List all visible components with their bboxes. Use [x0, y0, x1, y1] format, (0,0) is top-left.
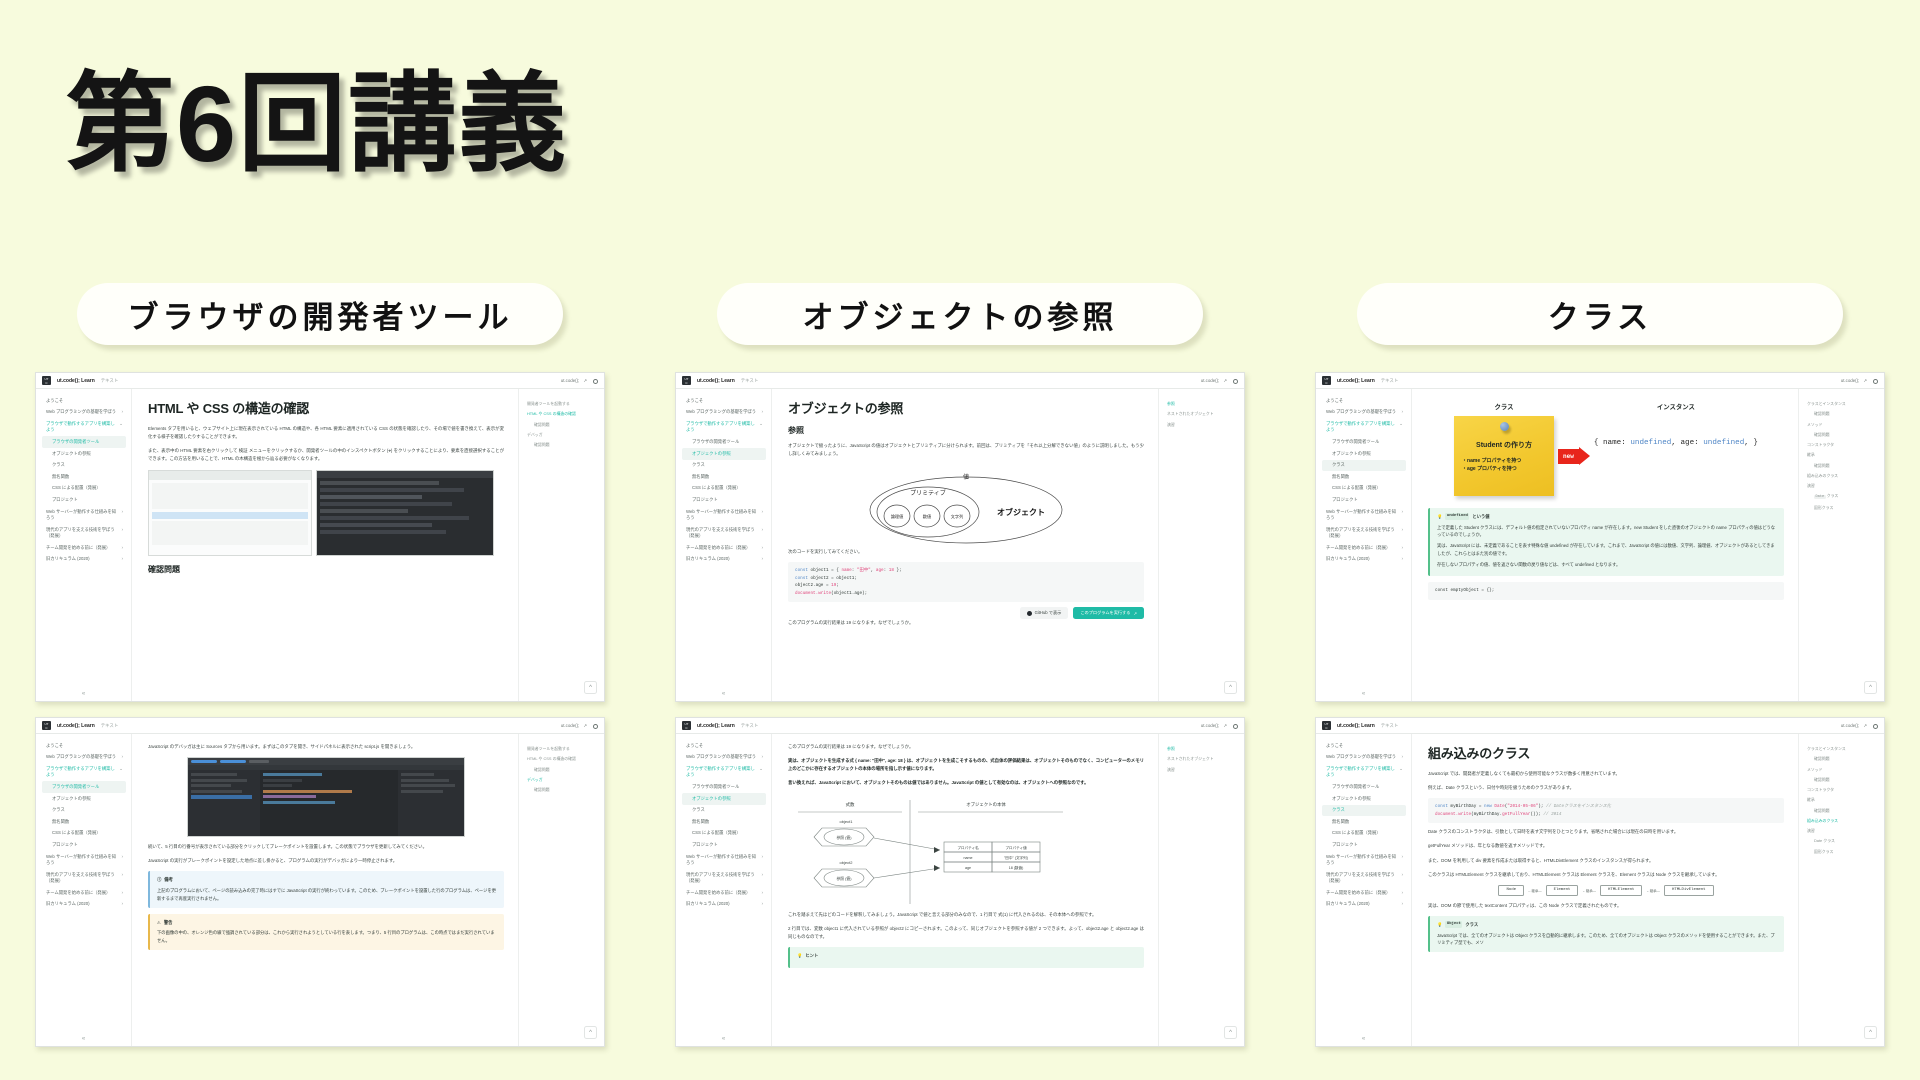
sidebar-item-web-server[interactable]: Web サーバーが動作する仕組みを知ろう›	[682, 851, 766, 869]
sidebar-item-object-reference[interactable]: オブジェクトの参照	[1322, 448, 1406, 460]
topic-pill-3: クラス	[1357, 283, 1843, 345]
chevron-right-icon: ›	[1401, 410, 1403, 415]
browser-screenshot-devtools-html-css: UTC ut.code(); Learn テキスト ut.code(); ↗ よ…	[35, 372, 605, 702]
content-heading: HTML や CSS の構造の確認	[148, 398, 504, 417]
chevron-right-icon: ›	[121, 855, 123, 860]
chevron-right-icon: ›	[1401, 855, 1403, 860]
content-paragraph-1: このプログラムの実行結果は 19 になります。なぜでしょうか。	[788, 743, 1144, 751]
sidebar-item-project[interactable]: プロジェクト	[682, 839, 766, 851]
scroll-to-top-button[interactable]: ^	[1864, 681, 1877, 694]
sidebar-item-modern-tech[interactable]: 現代のアプリを支える技術を学ぼう（発展）›	[682, 524, 766, 542]
undefined-tip-callout: 💡 undefined という値 上で定義した Student クラスには、デフ…	[1428, 508, 1784, 576]
toc-item[interactable]: 確認問題	[1807, 430, 1878, 440]
content-heading: 組み込みのクラス	[1428, 743, 1784, 762]
toc-item[interactable]: コンストラクタ	[1807, 440, 1878, 450]
sidebar-item-team-dev[interactable]: チーム開発を始める前に（発展）›	[682, 887, 766, 899]
toc-item[interactable]: クラスとインスタンス	[1807, 744, 1878, 754]
venn-inner-label-3: 文字列	[951, 513, 964, 520]
brand-right-label: ut.code();	[1841, 723, 1860, 728]
sidebar-item-anonymous-fn[interactable]: 無名関数	[42, 471, 126, 483]
venn-outer-label: 値	[963, 473, 969, 481]
toc-item[interactable]: 演習	[1167, 420, 1238, 430]
chevron-right-icon: ›	[1401, 755, 1403, 760]
toc-item[interactable]: 確認問題	[527, 420, 598, 430]
callout-title-chip: undefined	[1445, 513, 1469, 520]
chevron-down-icon: ⌄	[1399, 422, 1403, 427]
new-arrow: new	[1558, 447, 1590, 465]
sidebar-item-project[interactable]: プロジェクト	[42, 494, 126, 506]
toc-item[interactable]: 確認問題	[527, 440, 598, 450]
sidebar-item-devtools[interactable]: ブラウザの開発者ツール	[1322, 781, 1406, 793]
external-link-icon[interactable]: ↗	[1863, 378, 1867, 384]
sidebar-item-welcome[interactable]: ようこそ	[1322, 740, 1406, 752]
toc-item-active[interactable]: デバッガ	[527, 775, 598, 785]
sidebar-item-browser-apps[interactable]: ブラウザで動作するアプリを構築しよう⌄	[42, 418, 126, 436]
chevron-right-icon: ›	[121, 557, 123, 562]
brand-label: ut.code(); Learn	[57, 723, 95, 729]
external-link-icon: ↗	[1133, 611, 1137, 616]
toc-item[interactable]: HTML や CSS の構造の確認	[527, 754, 598, 764]
sidebar-item-css-layout[interactable]: CSS による配置（発展）	[42, 828, 126, 840]
chevron-right-icon: ›	[761, 902, 763, 907]
sidebar-item-web-basics[interactable]: Web プログラミングの基礎を学ぼう›	[682, 752, 766, 764]
devtools-image-row	[148, 470, 504, 556]
content-paragraph-3: Date クラスのコンストラクタは、引数として日時を表す文字列をひとつとります。…	[1428, 828, 1784, 836]
sidebar-item-web-server[interactable]: Web サーバーが動作する仕組みを知ろう›	[42, 851, 126, 869]
content-paragraph-2: 続いて、5 行目の行番号が表示されている部分をクリックしてブレークポイントを設置…	[148, 843, 504, 851]
sidebar-item-old-curriculum[interactable]: 旧カリキュラム (2020)›	[1322, 899, 1406, 911]
toc-item[interactable]: 継承	[1807, 795, 1878, 805]
sidebar-item-browser-apps[interactable]: ブラウザで動作するアプリを構築しよう⌄	[1322, 418, 1406, 436]
hint-callout: 💡 ヒント	[788, 947, 1144, 968]
section-subheading: 確認問題	[148, 564, 504, 575]
sidebar-item-class[interactable]: クラス	[42, 460, 126, 472]
toc-item[interactable]: 図形クラス	[1807, 847, 1878, 857]
browser-topbar: UTC ut.code(); Learn テキスト ut.code(); ↗	[676, 373, 1244, 389]
main-content: オブジェクトの参照 参照 オブジェクトで扱ったように、JavaScript の値…	[772, 389, 1158, 701]
sidebar-item-web-server[interactable]: Web サーバーが動作する仕組みを知ろう›	[1322, 851, 1406, 869]
callout-title: 💡 ヒント	[797, 952, 1137, 960]
content-paragraph-4: これを踏まえて先ほどのコードを解釈してみましょう。JavaScript で値と言…	[788, 911, 1144, 919]
sidebar-item-web-basics[interactable]: Web プログラミングの基礎を学ぼう›	[1322, 752, 1406, 764]
chevron-right-icon: ›	[121, 546, 123, 551]
toc-item-active[interactable]: HTML や CSS の構造の確認	[527, 409, 598, 419]
sidebar-item-anonymous-fn[interactable]: 無名関数	[1322, 471, 1406, 483]
sidebar-item-class[interactable]: クラス	[1322, 460, 1406, 472]
nav-text-link[interactable]: テキスト	[741, 378, 758, 384]
lightbulb-icon: 💡	[1437, 513, 1442, 521]
note-callout: ⓘ 備考 上記のプログラムにおいて、ページの読み込みの完了時にはすでに Java…	[148, 871, 504, 907]
instance-column: インスタンス { name: undefined, age: undefined…	[1594, 402, 1758, 450]
sidebar-collapse-button[interactable]: «	[36, 1036, 131, 1042]
chevron-right-icon: ›	[121, 873, 123, 878]
external-link-icon[interactable]: ↗	[1223, 723, 1227, 729]
inheritance-node-4: HTMLDivElement	[1664, 885, 1714, 896]
callout-paragraph-2: 実は、JavaScript には、未定義であることを表す特殊な値 undefin…	[1437, 542, 1777, 557]
ref-col-left-label: 式数	[846, 801, 855, 808]
ref-col-right-label: オブジェクトの本体	[966, 801, 1006, 808]
sidebar-item-browser-apps[interactable]: ブラウザで動作するアプリを構築しよう⌄	[682, 763, 766, 781]
toc-item[interactable]: 開発者ツールを起動する	[527, 744, 598, 754]
inheritance-node-1: Node	[1498, 885, 1524, 896]
callout-body: JavaScript では、全てのオブジェクトは Object クラスを自動的に…	[1437, 932, 1777, 947]
sidebar-item-web-basics[interactable]: Web プログラミングの基礎を学ぼう›	[682, 407, 766, 419]
chevron-right-icon: ›	[761, 873, 763, 878]
chevron-right-icon: ›	[121, 755, 123, 760]
run-program-button[interactable]: このプログラムを実行する↗	[1073, 607, 1144, 619]
sidebar-item-project[interactable]: プロジェクト	[42, 839, 126, 851]
content-paragraph-1: Elements タブを用いると、ウェブサイト上に現在表示されている HTML …	[148, 425, 504, 441]
scroll-to-top-button[interactable]: ^	[584, 1026, 597, 1039]
toc-item[interactable]: Date クラス	[1807, 836, 1878, 846]
sun-icon[interactable]	[1871, 722, 1878, 729]
browser-topbar: UTC ut.code(); Learn テキスト ut.code(); ↗	[36, 373, 604, 389]
browser-topbar: UTC ut.code(); Learn テキスト ut.code(); ↗	[1316, 373, 1884, 389]
sun-icon[interactable]	[1871, 377, 1878, 384]
inheritance-arrow-1: ←継承—	[1528, 888, 1542, 893]
toc-item[interactable]: 確認問題	[527, 785, 598, 795]
callout-code-block: const emptyObject = {};	[1428, 582, 1784, 600]
callout-title-rest: という値	[1472, 513, 1489, 521]
sidebar-item-modern-tech[interactable]: 現代のアプリを支える技術を学ぼう（発展）›	[682, 869, 766, 887]
sidebar-item-devtools[interactable]: ブラウザの開発者ツール	[1322, 436, 1406, 448]
brand-label: ut.code(); Learn	[57, 378, 95, 384]
content-paragraph-2: 例えば、Date クラスという、日付や時刻を扱うためのクラスがあります。	[1428, 784, 1784, 792]
sun-icon[interactable]	[1231, 722, 1238, 729]
sidebar-item-class[interactable]: クラス	[682, 805, 766, 817]
sidebar-item-team-dev[interactable]: チーム開発を始める前に（発展）›	[682, 542, 766, 554]
sidebar-nav: ようこそ Web プログラミングの基礎を学ぼう› ブラウザで動作するアプリを構築…	[1316, 734, 1412, 1046]
sidebar-nav: ようこそ Web プログラミングの基礎を学ぼう› ブラウザで動作するアプリを構築…	[36, 734, 132, 1046]
content-paragraph-1: オブジェクトで扱ったように、JavaScript の値はオブジェクトとプリミティ…	[788, 442, 1144, 458]
sidebar-item-class[interactable]: クラス	[682, 460, 766, 472]
ref-table-cell-1-2: "田中" (文字列)	[1004, 855, 1028, 860]
sidebar-collapse-button[interactable]: «	[36, 691, 131, 697]
table-of-contents: クラスとインスタンス 確認問題 メソッド 確認問題 コンストラクタ 継承 確認問…	[1798, 389, 1884, 701]
sidebar-collapse-button[interactable]: «	[676, 691, 771, 697]
toc-item[interactable]: 確認問題	[1807, 461, 1878, 471]
chevron-right-icon: ›	[121, 891, 123, 896]
venn-middle-label: プリミティブ	[910, 489, 946, 497]
brand-label: ut.code(); Learn	[1337, 378, 1375, 384]
toc-item-active[interactable]: 組み込みのクラス	[1807, 816, 1878, 826]
toc-item-active[interactable]: 参照	[1167, 744, 1238, 754]
sidebar-item-web-basics[interactable]: Web プログラミングの基礎を学ぼう›	[1322, 407, 1406, 419]
grid-cell-6: UTC ut.code(); Learn テキスト ut.code(); ↗ よ…	[1280, 717, 1920, 1062]
content-paragraph-4: getFullYear メソッドは、年となる数値を返すメソッドです。	[1428, 842, 1784, 850]
toc-item[interactable]: 確認問題	[1807, 806, 1878, 816]
grid-cell-2: UTC ut.code(); Learn テキスト ut.code(); ↗ よ…	[640, 372, 1280, 717]
info-icon: ⓘ	[157, 876, 161, 884]
code-action-buttons: GitHub で表示 このプログラムを実行する↗	[788, 607, 1144, 619]
sidebar-item-browser-apps[interactable]: ブラウザで動作するアプリを構築しよう⌄	[42, 763, 126, 781]
browser-topbar: UTC ut.code(); Learn テキスト ut.code(); ↗	[676, 718, 1244, 734]
callout-title: ⓘ 備考	[157, 876, 497, 884]
chevron-right-icon: ›	[121, 902, 123, 907]
sidebar-collapse-button[interactable]: «	[676, 1036, 771, 1042]
ref-table-cell-1-1: name	[964, 856, 973, 860]
external-link-icon[interactable]: ↗	[583, 723, 587, 729]
sidebar-item-object-reference[interactable]: オブジェクトの参照	[42, 448, 126, 460]
sidebar-item-web-server[interactable]: Web サーバーが動作する仕組みを知ろう›	[42, 506, 126, 524]
toc-item[interactable]: 演習	[1807, 481, 1878, 491]
toc-item[interactable]: ネストされたオブジェクト	[1167, 754, 1238, 764]
inheritance-arrow-2: ←継承—	[1582, 888, 1596, 893]
sidebar-item-project[interactable]: プロジェクト	[682, 494, 766, 506]
sidebar-item-team-dev[interactable]: チーム開発を始める前に（発展）›	[42, 887, 126, 899]
brand-right-label: ut.code();	[561, 723, 580, 728]
topic-pill-1: ブラウザの開発者ツール	[77, 283, 563, 345]
sidebar-item-class[interactable]: クラス	[42, 805, 126, 817]
sidebar-item-welcome[interactable]: ようこそ	[682, 740, 766, 752]
toc-item[interactable]: 演習	[1807, 826, 1878, 836]
reference-diagram: 式数 オブジェクトの本体 object1 参照 (値) object2	[788, 794, 1144, 911]
toc-item-active[interactable]: 参照	[1167, 399, 1238, 409]
devtools-panel-image-right	[316, 470, 494, 556]
scroll-to-top-button[interactable]: ^	[584, 681, 597, 694]
toc-item[interactable]: 組み込みのクラス	[1807, 471, 1878, 481]
content-paragraph-5: 2 行目では、変数 object1 に代入されている参照が object2 にコ…	[788, 925, 1144, 941]
sticky-note-item-1: ・name プロパティを持つ	[1462, 458, 1546, 466]
chevron-right-icon: ›	[1401, 528, 1403, 533]
sidebar-collapse-button[interactable]: «	[1316, 691, 1411, 697]
chevron-down-icon: ⌄	[759, 767, 763, 772]
sidebar-item-modern-tech[interactable]: 現代のアプリを支える技術を学ぼう（発展）›	[42, 869, 126, 887]
sidebar-item-old-curriculum[interactable]: 旧カリキュラム (2020)›	[682, 899, 766, 911]
chevron-right-icon: ›	[761, 891, 763, 896]
sidebar-item-welcome[interactable]: ようこそ	[682, 395, 766, 407]
nav-text-link[interactable]: テキスト	[1381, 378, 1398, 384]
table-of-contents: 参照 ネストされたオブジェクト 演習	[1158, 734, 1244, 1046]
callout-title: 💡 Object クラス	[1437, 921, 1777, 929]
callout-paragraph-3: 存在しないプロパティの値、値を返さない関数の戻り値などは、すべて undefin…	[1437, 561, 1777, 569]
callout-paragraph-1: 上で定義した Student クラスには、デフォルト値の指定されていないプロパテ…	[1437, 524, 1777, 539]
sidebar-item-team-dev[interactable]: チーム開発を始める前に（発展）›	[1322, 542, 1406, 554]
table-of-contents: 開発者ツールを起動する HTML や CSS の構造の確認 確認問題 デバッガ …	[518, 389, 604, 701]
ref-var-1-label: object1	[840, 819, 854, 824]
sidebar-item-class[interactable]: クラス	[1322, 805, 1406, 817]
sidebar-collapse-button[interactable]: «	[1316, 1036, 1411, 1042]
external-link-icon[interactable]: ↗	[583, 378, 587, 384]
sidebar-item-object-reference[interactable]: オブジェクトの参照	[682, 793, 766, 805]
browser-screenshot-class: UTC ut.code(); Learn テキスト ut.code(); ↗ よ…	[1315, 372, 1885, 702]
scroll-to-top-button[interactable]: ^	[1224, 1026, 1237, 1039]
scroll-to-top-button[interactable]: ^	[1864, 1026, 1877, 1039]
sidebar-nav: ようこそ Web プログラミングの基礎を学ぼう› ブラウザで動作するアプリを構築…	[1316, 389, 1412, 701]
content-paragraph-3: JavaScript の実行がブレークポイントを設定した地点に差し掛かると、プロ…	[148, 857, 504, 865]
lightbulb-icon: 💡	[1437, 921, 1442, 929]
sidebar-item-css-layout[interactable]: CSS による配置（発展）	[682, 483, 766, 495]
sidebar-item-css-layout[interactable]: CSS による配置（発展）	[42, 483, 126, 495]
venn-inner-label-2: 数値	[923, 513, 931, 520]
sun-icon[interactable]	[591, 722, 598, 729]
sun-icon[interactable]	[591, 377, 598, 384]
chevron-right-icon: ›	[761, 557, 763, 562]
toc-item[interactable]: 確認問題	[1807, 409, 1878, 419]
chevron-right-icon: ›	[1401, 873, 1403, 878]
sidebar-item-browser-apps[interactable]: ブラウザで動作するアプリを構築しよう⌄	[682, 418, 766, 436]
sticky-note-item-2: ・age プロパティを持つ	[1462, 466, 1546, 474]
sidebar-item-css-layout[interactable]: CSS による配置（発展）	[682, 828, 766, 840]
devtools-sources-image	[187, 757, 465, 837]
reference-diagram-svg: 式数 オブジェクトの本体 object1 参照 (値) object2	[788, 798, 1078, 906]
class-column-title: クラス	[1495, 402, 1514, 411]
sidebar-nav: ようこそ Web プログラミングの基礎を学ぼう› ブラウザで動作するアプリを構築…	[36, 389, 132, 701]
chevron-right-icon: ›	[1401, 546, 1403, 551]
sidebar-item-browser-apps[interactable]: ブラウザで動作するアプリを構築しよう⌄	[1322, 763, 1406, 781]
toc-item[interactable]: 図形クラス	[1807, 503, 1878, 513]
code-block: const myBirthDay = new Date("2014-05-06"…	[1428, 798, 1784, 823]
ref-bubble-2-label: 参照 (値)	[837, 876, 853, 881]
arrow-head-icon	[1579, 447, 1590, 465]
class-instance-diagram: クラス Student の作り方 ・name プロパティを持つ ・age プロパ…	[1428, 398, 1784, 502]
external-link-icon[interactable]: ↗	[1223, 378, 1227, 384]
toc-item[interactable]: メソッド	[1807, 420, 1878, 430]
topic-pill-2: オブジェクトの参照	[717, 283, 1203, 345]
warning-icon: ⚠	[157, 919, 161, 927]
utcode-logo: UTC	[42, 376, 51, 385]
browser-screenshot-debugger: UTC ut.code(); Learn テキスト ut.code(); ↗ よ…	[35, 717, 605, 1047]
external-link-icon[interactable]: ↗	[1863, 723, 1867, 729]
content-paragraph-6: このクラスは HTMLElement クラスを継承しており、HTMLElemen…	[1428, 871, 1784, 879]
github-view-button[interactable]: GitHub で表示	[1020, 607, 1069, 619]
sidebar-item-web-basics[interactable]: Web プログラミングの基礎を学ぼう›	[42, 752, 126, 764]
utcode-logo: UTC	[42, 721, 51, 730]
sidebar-item-project[interactable]: プロジェクト	[1322, 494, 1406, 506]
toc-item[interactable]: コンストラクタ	[1807, 785, 1878, 795]
main-content: このプログラムの実行結果は 19 になります。なぜでしょうか。 実は、オブジェク…	[772, 734, 1158, 1046]
sidebar-item-welcome[interactable]: ようこそ	[42, 395, 126, 407]
chevron-right-icon: ›	[761, 510, 763, 515]
table-of-contents: 開発者ツールを起動する HTML や CSS の構造の確認 確認問題 デバッガ …	[518, 734, 604, 1046]
ref-bubble-1-label: 参照 (値)	[837, 835, 853, 840]
slide-root: 第6回講義 ブラウザの開発者ツール オブジェクトの参照 クラス UTC ut.c…	[0, 0, 1920, 1080]
browser-topbar: UTC ut.code(); Learn テキスト ut.code(); ↗	[36, 718, 604, 734]
nav-text-link[interactable]: テキスト	[101, 723, 118, 729]
scroll-to-top-button[interactable]: ^	[1224, 681, 1237, 694]
toc-item[interactable]: 開発者ツールを起動する	[527, 399, 598, 409]
chevron-right-icon: ›	[761, 755, 763, 760]
callout-title-chip: Object	[1445, 921, 1462, 928]
sidebar-item-anonymous-fn[interactable]: 無名関数	[682, 816, 766, 828]
nav-text-link[interactable]: テキスト	[1381, 723, 1398, 729]
venn-diagram-svg: 値 プリミティブ 論理値 数値 文字列 オブジェクト	[861, 464, 1071, 546]
ref-table-cell-2-2: 18 (数値)	[1009, 865, 1024, 870]
callout-body: 下の画像の中の、オレンジ色の線で強調されている部分は、これから実行されようとして…	[157, 929, 497, 944]
sidebar-item-css-layout[interactable]: CSS による配置（発展）	[1322, 828, 1406, 840]
sidebar-item-anonymous-fn[interactable]: 無名関数	[1322, 816, 1406, 828]
chevron-right-icon: ›	[1401, 510, 1403, 515]
browser-screenshot-reference-detail: UTC ut.code(); Learn テキスト ut.code(); ↗ よ…	[675, 717, 1245, 1047]
nav-text-link[interactable]: テキスト	[741, 723, 758, 729]
ref-table-cell-2-1: age	[965, 866, 971, 870]
utcode-logo: UTC	[1322, 721, 1331, 730]
sidebar-item-modern-tech[interactable]: 現代のアプリを支える技術を学ぼう（発展）›	[1322, 524, 1406, 542]
toc-item[interactable]: 確認問題	[527, 765, 598, 775]
chevron-right-icon: ›	[121, 410, 123, 415]
toc-item[interactable]: 演習	[1167, 765, 1238, 775]
table-of-contents: 参照 ネストされたオブジェクト 演習	[1158, 389, 1244, 701]
nav-text-link[interactable]: テキスト	[101, 378, 118, 384]
brand-label: ut.code(); Learn	[697, 378, 735, 384]
chevron-right-icon: ›	[761, 410, 763, 415]
table-of-contents: クラスとインスタンス 確認問題 メソッド 確認問題 コンストラクタ 継承 確認問…	[1798, 734, 1884, 1046]
toc-item[interactable]: クラスとインスタンス	[1807, 399, 1878, 409]
sidebar-item-devtools[interactable]: ブラウザの開発者ツール	[682, 781, 766, 793]
brand-right-label: ut.code();	[1841, 378, 1860, 383]
main-content: HTML や CSS の構造の確認 Elements タブを用いると、ウェブサイ…	[132, 389, 518, 701]
toc-item[interactable]: 継承	[1807, 450, 1878, 460]
sun-icon[interactable]	[1231, 377, 1238, 384]
sidebar-item-web-server[interactable]: Web サーバーが動作する仕組みを知ろう›	[1322, 506, 1406, 524]
callout-title: ⚠ 警告	[157, 919, 497, 927]
sidebar-item-modern-tech[interactable]: 現代のアプリを支える技術を学ぼう（発展）›	[1322, 869, 1406, 887]
toc-item[interactable]: メソッド	[1807, 765, 1878, 775]
sidebar-item-anonymous-fn[interactable]: 無名関数	[682, 471, 766, 483]
grid-cell-3: UTC ut.code(); Learn テキスト ut.code(); ↗ よ…	[1280, 372, 1920, 717]
browser-topbar: UTC ut.code(); Learn テキスト ut.code(); ↗	[1316, 718, 1884, 734]
sidebar-item-old-curriculum[interactable]: 旧カリキュラム (2020)›	[1322, 554, 1406, 566]
sidebar-item-anonymous-fn[interactable]: 無名関数	[42, 816, 126, 828]
callout-body: 上記のプログラムにおいて、ページの読み込みの完了時にはすでに JavaScrip…	[157, 887, 497, 902]
content-paragraph-7: 実は、DOM の節で使用した textContent プロパティは、この Nod…	[1428, 902, 1784, 910]
chevron-right-icon: ›	[1401, 891, 1403, 896]
brand-label: ut.code(); Learn	[1337, 723, 1375, 729]
toc-item[interactable]: Date クラス	[1807, 491, 1878, 503]
sidebar-item-team-dev[interactable]: チーム開発を始める前に（発展）›	[42, 542, 126, 554]
content-paragraph-2: また、表示中の HTML 要素を右クリックして 検証 メニューをクリックするか、…	[148, 447, 504, 463]
sidebar-item-devtools[interactable]: ブラウザの開発者ツール	[42, 436, 126, 448]
sidebar-item-object-reference[interactable]: オブジェクトの参照	[42, 793, 126, 805]
toc-item[interactable]: 確認問題	[1807, 775, 1878, 785]
sidebar-item-project[interactable]: プロジェクト	[1322, 839, 1406, 851]
chevron-down-icon: ⌄	[759, 422, 763, 427]
screenshot-grid: UTC ut.code(); Learn テキスト ut.code(); ↗ よ…	[0, 372, 1920, 1062]
browser-screenshot-object-reference: UTC ut.code(); Learn テキスト ut.code(); ↗ よ…	[675, 372, 1245, 702]
sidebar-item-object-reference[interactable]: オブジェクトの参照	[682, 448, 766, 460]
instance-column-title: インスタンス	[1657, 402, 1695, 411]
content-subheading: 参照	[788, 425, 1144, 436]
new-arrow-label: new	[1558, 449, 1579, 464]
toc-item[interactable]: ネストされたオブジェクト	[1167, 409, 1238, 419]
toc-item[interactable]: 確認問題	[1807, 754, 1878, 764]
sidebar-item-old-curriculum[interactable]: 旧カリキュラム (2020)›	[42, 899, 126, 911]
brand-right-label: ut.code();	[1201, 378, 1220, 383]
sidebar-item-object-reference[interactable]: オブジェクトの参照	[1322, 793, 1406, 805]
grid-cell-4: UTC ut.code(); Learn テキスト ut.code(); ↗ よ…	[0, 717, 640, 1062]
chevron-right-icon: ›	[761, 528, 763, 533]
main-content: クラス Student の作り方 ・name プロパティを持つ ・age プロパ…	[1412, 389, 1798, 701]
content-paragraph-3: 言い換えれば、JavaScript において、オブジェクトそのものは値ではありま…	[788, 779, 1144, 787]
sidebar-item-web-basics[interactable]: Web プログラミングの基礎を学ぼう›	[42, 407, 126, 419]
sidebar-item-welcome[interactable]: ようこそ	[42, 740, 126, 752]
sidebar-item-web-server[interactable]: Web サーバーが動作する仕組みを知ろう›	[682, 506, 766, 524]
sidebar-item-modern-tech[interactable]: 現代のアプリを支える技術を学ぼう（発展）›	[42, 524, 126, 542]
sidebar-item-welcome[interactable]: ようこそ	[1322, 395, 1406, 407]
chevron-down-icon: ⌄	[119, 422, 123, 427]
sidebar-item-css-layout[interactable]: CSS による配置（発展）	[1322, 483, 1406, 495]
sidebar-item-devtools[interactable]: ブラウザの開発者ツール	[42, 781, 126, 793]
inheritance-node-2: Element	[1546, 885, 1579, 896]
instance-object-code: { name: undefined, age: undefined, }	[1594, 436, 1758, 450]
sidebar-item-old-curriculum[interactable]: 旧カリキュラム (2020)›	[42, 554, 126, 566]
sidebar-item-old-curriculum[interactable]: 旧カリキュラム (2020)›	[682, 554, 766, 566]
main-content: JavaScript のデバッガは主に Sources タブから用います。まずは…	[132, 734, 518, 1046]
sidebar-item-devtools[interactable]: ブラウザの開発者ツール	[682, 436, 766, 448]
sidebar-item-team-dev[interactable]: チーム開発を始める前に（発展）›	[1322, 887, 1406, 899]
browser-screenshot-builtin-class: UTC ut.code(); Learn テキスト ut.code(); ↗ よ…	[1315, 717, 1885, 1047]
toc-item[interactable]: デバッガ	[527, 430, 598, 440]
